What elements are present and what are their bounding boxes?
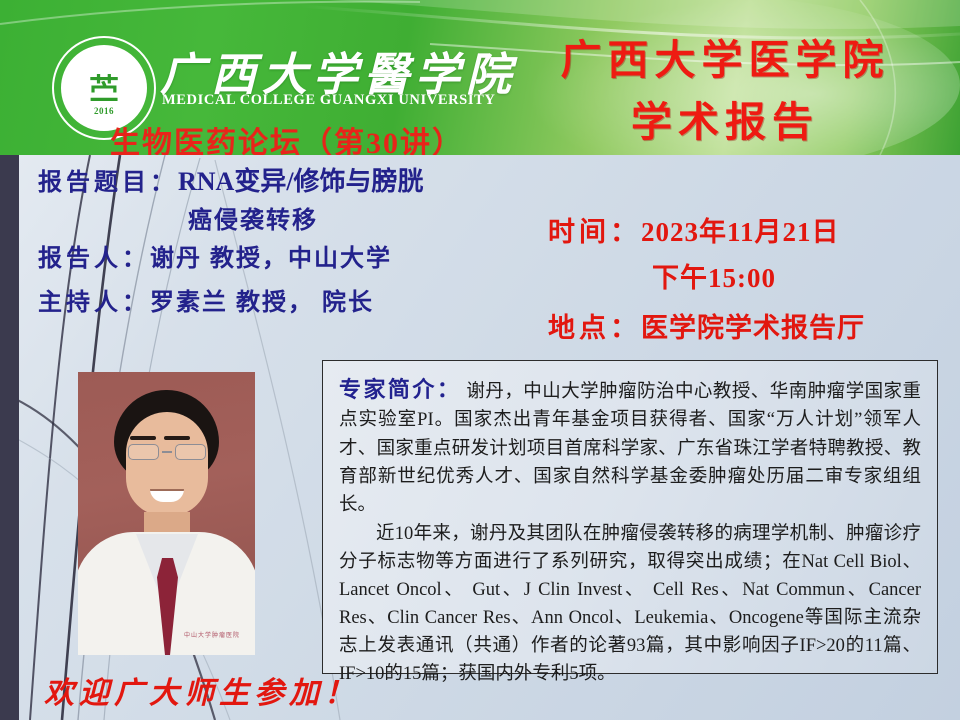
host-value: 罗素兰 教授， 院长	[150, 290, 374, 316]
speaker-bio-box: 专家简介： 谢丹，中山大学肿瘤防治中心教授、华南肿瘤学国家重点实验室PI。国家杰…	[322, 360, 938, 674]
topic-row: 报告题目：RNA变异/修饰与膀胱	[38, 168, 424, 197]
speaker-row: 报告人：谢丹 教授，中山大学	[38, 246, 392, 272]
bio-paragraph-1: 专家简介： 谢丹，中山大学肿瘤防治中心教授、华南肿瘤学国家重点实验室PI。国家杰…	[339, 373, 921, 519]
banner-title-line2: 学术报告	[490, 88, 960, 148]
left-accent-bar	[0, 155, 19, 720]
welcome-note: 欢迎广大师生参加！	[44, 668, 359, 712]
topic-line2-row: 癌侵袭转移	[188, 208, 318, 234]
host-row: 主持人：罗素兰 教授， 院长	[38, 290, 374, 316]
bio-paragraph-2: 近10年来，谢丹及其团队在肿瘤侵袭转移的病理学机制、肿瘤诊疗分子标志物等方面进行…	[339, 520, 921, 689]
banner-title-line1: 广西大学医学院	[490, 26, 960, 86]
banner-title: 广西大学医学院 学术报告	[490, 0, 960, 155]
bio-heading: 专家简介：	[339, 377, 461, 402]
college-name-english: MEDICAL COLLEGE GUANGXI UNIVERSITY	[162, 92, 495, 109]
portrait-brow-right	[164, 436, 190, 440]
glasses-bridge	[162, 451, 172, 453]
place-label: 地点：	[548, 313, 641, 343]
glasses-lens-right	[175, 444, 206, 460]
speaker-label: 报告人：	[38, 246, 150, 272]
topic-label: 报告题目：	[38, 170, 178, 196]
speaker-value: 谢丹 教授，中山大学	[150, 246, 392, 272]
speaker-photo: 中山大学肿瘤医院	[78, 372, 255, 655]
place-value: 医学院学术报告厅	[641, 313, 865, 343]
logo-year: 2016	[52, 106, 156, 116]
time-label: 时间：	[548, 217, 641, 247]
forum-series-label: 生物医药论坛（第30讲）	[110, 118, 464, 155]
topic-line1: RNA变异/修饰与膀胱	[178, 167, 424, 196]
portrait-coat-badge: 中山大学肿瘤医院	[184, 630, 240, 639]
time-clock: 下午15:00	[652, 256, 776, 295]
glasses-lens-left	[128, 444, 159, 460]
time-row: 时间：2023年11月21日	[548, 210, 840, 249]
header-banner: 苎 2016 广西大学醫学院 MEDICAL COLLEGE GUANGXI U…	[0, 0, 960, 155]
portrait-glasses	[126, 444, 208, 461]
time-date: 2023年11月21日	[641, 217, 840, 247]
seminar-poster: 苎 2016 广西大学醫学院 MEDICAL COLLEGE GUANGXI U…	[0, 0, 960, 720]
host-label: 主持人：	[38, 290, 150, 316]
logo-emblem-glyph: 苎	[89, 76, 119, 106]
place-row: 地点：医学院学术报告厅	[548, 306, 865, 345]
portrait-brow-left	[130, 436, 156, 440]
